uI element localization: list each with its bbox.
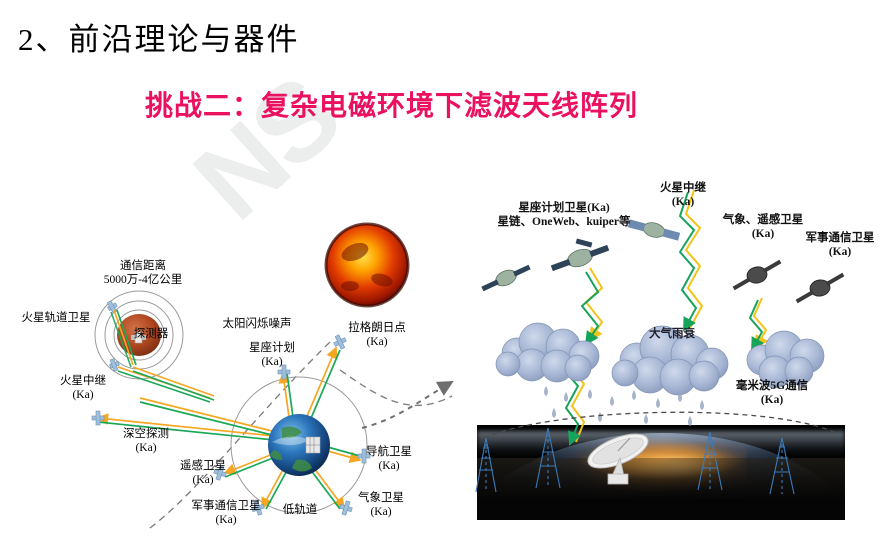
slide-canvas: NS 2、前沿理论与器件 挑战二：复杂电磁环境下滤波天线阵列: [0, 0, 889, 558]
slide-subtitle: 挑战二：复杂电磁环境下滤波天线阵列: [145, 84, 638, 124]
tower-4: [770, 438, 794, 494]
left-diagram: 通信距离 5000万-4亿公里 火星轨道卫星 探测器 火星中继 (Ka) 太阳闪…: [0, 160, 470, 558]
mars-relay-signal-green: [680, 192, 696, 330]
constellation-signal-orange: [586, 268, 602, 340]
parabolic-dish-antenna: [583, 427, 652, 484]
cloud-left: [496, 323, 599, 382]
label-navigation-satellite: 导航卫星 (Ka): [356, 446, 422, 473]
label-military-comm-satellite: 军事通信卫星 (Ka): [178, 500, 274, 527]
label-constellation-plan: 星座计划 (Ka): [238, 342, 306, 369]
coverage-arc: [484, 412, 834, 438]
military-signal-green: [750, 300, 762, 350]
space-station-icon: [306, 437, 320, 453]
label-rain-attenuation: 大气雨衰: [640, 328, 704, 342]
mars-orbit-satellite-icon: [107, 301, 117, 313]
label-solar-scintillation-noise: 太阳闪烁噪声: [214, 318, 300, 332]
label-mmwave-5g: 毫米波5G通信 (Ka): [720, 380, 824, 408]
label-weather-satellite: 气象卫星 (Ka): [348, 492, 414, 519]
label-lagrange-point: 拉格朗日点 (Ka): [338, 322, 416, 349]
label-mars-orbit-satellite: 火星轨道卫星: [10, 312, 102, 326]
label-remote-sensing-satellite: 遥感卫星 (Ka): [170, 460, 236, 487]
mars-relay-signal-orange: [686, 190, 702, 328]
label-low-orbit: 低轨道: [274, 504, 326, 518]
label-military-comm-right: 军事通信卫星 (Ka): [792, 232, 888, 260]
tower-2: [536, 428, 560, 488]
label-comm-distance: 通信距离 5000万-4亿公里: [88, 260, 198, 287]
tower-3: [698, 432, 722, 490]
tower-1: [476, 438, 496, 492]
label-mars-relay: 火星中继 (Ka): [48, 375, 118, 402]
military-and-weather-satellites: [729, 260, 847, 304]
label-constellation-satellites: 星座计划卫星(Ka) 星链、OneWeb、kuiper等: [474, 202, 654, 230]
slide-title: 2、前沿理论与器件: [18, 14, 300, 59]
right-scene: 星座计划卫星(Ka) 星链、OneWeb、kuiper等 火星中继 (Ka) 气…: [462, 170, 889, 530]
label-deep-space-exploration: 深空探测 (Ka): [112, 428, 180, 455]
label-probe: 探测器: [128, 328, 174, 342]
label-mars-relay-right: 火星中继 (Ka): [644, 182, 722, 210]
